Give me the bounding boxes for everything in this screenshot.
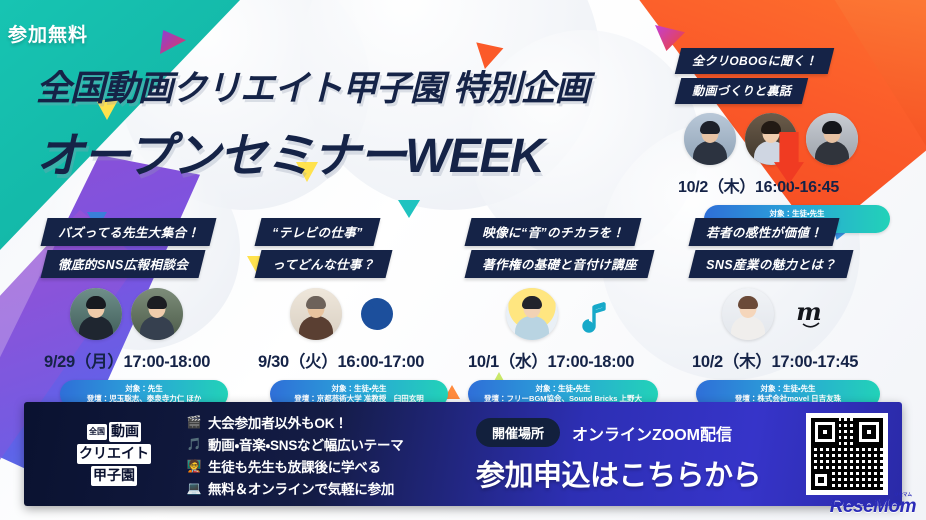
session-target: 対象：生徒・先生: [480, 384, 646, 394]
speaker-avatars: [290, 288, 458, 340]
avatar: [806, 113, 858, 165]
session-card-obog[interactable]: 全クリOBOGに聞く！ 動画づくりと裏話: [678, 48, 916, 233]
session-datetime: 9/29（月）17:00-18:00: [44, 348, 244, 372]
seminar-poster: 参加無料 全国動画クリエイト甲子園 特別企画 オープンセミナーWEEK 全クリO…: [0, 0, 926, 520]
headline-line-1: 全国動画クリエイト甲子園 特別企画: [36, 60, 589, 111]
movel-logo-icon: m: [783, 288, 835, 340]
session-target: 対象：先生: [72, 384, 216, 394]
bullet-label: 動画・音楽・SNSなど幅広いテーマ: [208, 434, 404, 454]
session-ribbon-secondary: 徹底的SNS広報相談会: [41, 250, 206, 278]
logo-text-douga: 動画: [109, 422, 141, 442]
speaker-avatars: m: [722, 288, 900, 340]
session-datetime: 9/30（火）16:00-17:00: [258, 348, 458, 372]
session-ribbon-primary: 全クリOBOGに聞く！: [675, 48, 835, 74]
svg-text:m: m: [796, 297, 821, 326]
session-card-2[interactable]: “テレビの仕事” ってどんな仕事？ 9/30（火）16:00-17:00 対象: [258, 218, 458, 408]
session-target: 対象：生徒・先生: [708, 384, 868, 394]
speaker-avatars: [70, 288, 244, 340]
logo-text-koshien: 甲子園: [91, 466, 137, 486]
avatar: [506, 288, 558, 340]
session-ribbon-secondary: 著作権の基礎と音付け講座: [465, 250, 655, 278]
logo-row: クリエイト: [77, 444, 151, 464]
session-datetime: 10/2（木）17:00-17:45: [692, 348, 900, 372]
banner-bullet-list: 🎬 大会参加者以外もOK！ 🎵 動画・音楽・SNSなど幅広いテーマ 🧑‍🏫 生徒…: [186, 412, 404, 498]
session-datetime: 10/2（木）16:00-16:45: [678, 173, 916, 197]
avatar: [70, 288, 122, 340]
session-datetime: 10/1（水）17:00-18:00: [468, 348, 680, 372]
avatar: [722, 288, 774, 340]
logo-row: 全国 動画: [87, 422, 141, 442]
laptop-icon: 💻: [186, 481, 202, 495]
logo-row: 甲子園: [91, 466, 137, 486]
apply-cta-text[interactable]: 参加申込はこちらから: [476, 452, 761, 494]
avatar: [131, 288, 183, 340]
list-item: 🧑‍🏫 生徒も先生も放課後に学べる: [186, 456, 404, 476]
session-ribbon-primary: 映像に“音”のチカラを！: [465, 218, 642, 246]
free-admission-badge: 参加無料: [8, 20, 88, 47]
session-card-4[interactable]: 若者の感性が価値！ SNS産業の魅力とは？ m 10/2（木）17:00-17:…: [692, 218, 900, 408]
bullet-label: 無料＆オンラインで気軽に参加: [208, 478, 394, 498]
avatar: [684, 113, 736, 165]
session-ribbon-primary: バズってる先生大集合！: [41, 218, 217, 246]
session-ribbon-secondary: ってどんな仕事？: [255, 250, 393, 278]
session-ribbon-primary: 若者の感性が価値！: [689, 218, 840, 246]
speaker-avatars: [506, 288, 680, 340]
list-item: 🎵 動画・音楽・SNSなど幅広いテーマ: [186, 434, 404, 454]
session-target: 対象：生徒・先生: [282, 384, 436, 394]
session-ribbon-secondary: SNS産業の魅力とは？: [689, 250, 854, 278]
session-ribbon-primary: “テレビの仕事”: [255, 218, 381, 246]
resemom-watermark: ReseMom: [830, 496, 916, 518]
session-ribbon-secondary: 動画づくりと裏話: [675, 78, 809, 104]
page-title: 全国動画クリエイト甲子園 特別企画 オープンセミナーWEEK: [36, 60, 589, 186]
koshien-logo: 全国 動画 クリエイト 甲子園: [58, 416, 170, 492]
partner-logo-icon: [351, 288, 403, 340]
speaker-avatars: [684, 113, 916, 165]
music-note-logo-icon: [567, 288, 619, 340]
avatar: [290, 288, 342, 340]
qr-code[interactable]: [806, 413, 888, 495]
bottom-banner: 全国 動画 クリエイト 甲子園 🎬 大会参加者以外もOK！ 🎵 動画・音楽・SN…: [24, 402, 902, 506]
bullet-label: 大会参加者以外もOK！: [208, 412, 348, 432]
classroom-icon: 🧑‍🏫: [186, 459, 202, 473]
headline-line-2: オープンセミナーWEEK: [36, 116, 589, 186]
venue-chip: 開催場所: [476, 418, 560, 447]
video-camera-icon: 🎬: [186, 415, 202, 429]
bullet-label: 生徒も先生も放課後に学べる: [208, 456, 381, 476]
logo-text-zenkoku: 全国: [87, 424, 107, 440]
logo-text-create: クリエイト: [77, 444, 151, 464]
session-card-3[interactable]: 映像に“音”のチカラを！ 著作権の基礎と音付け講座 10/1（水）17:00-1…: [468, 218, 680, 408]
music-notes-icon: 🎵: [186, 437, 202, 451]
session-card-1[interactable]: バズってる先生大集合！ 徹底的SNS広報相談会 9/29（月）17:00-18:…: [44, 218, 244, 408]
venue-value: オンラインZOOM配信: [572, 421, 732, 445]
list-item: 🎬 大会参加者以外もOK！: [186, 412, 404, 432]
list-item: 💻 無料＆オンラインで気軽に参加: [186, 478, 404, 498]
venue-row: 開催場所 オンラインZOOM配信: [476, 418, 732, 447]
qr-code-image: [811, 418, 883, 490]
